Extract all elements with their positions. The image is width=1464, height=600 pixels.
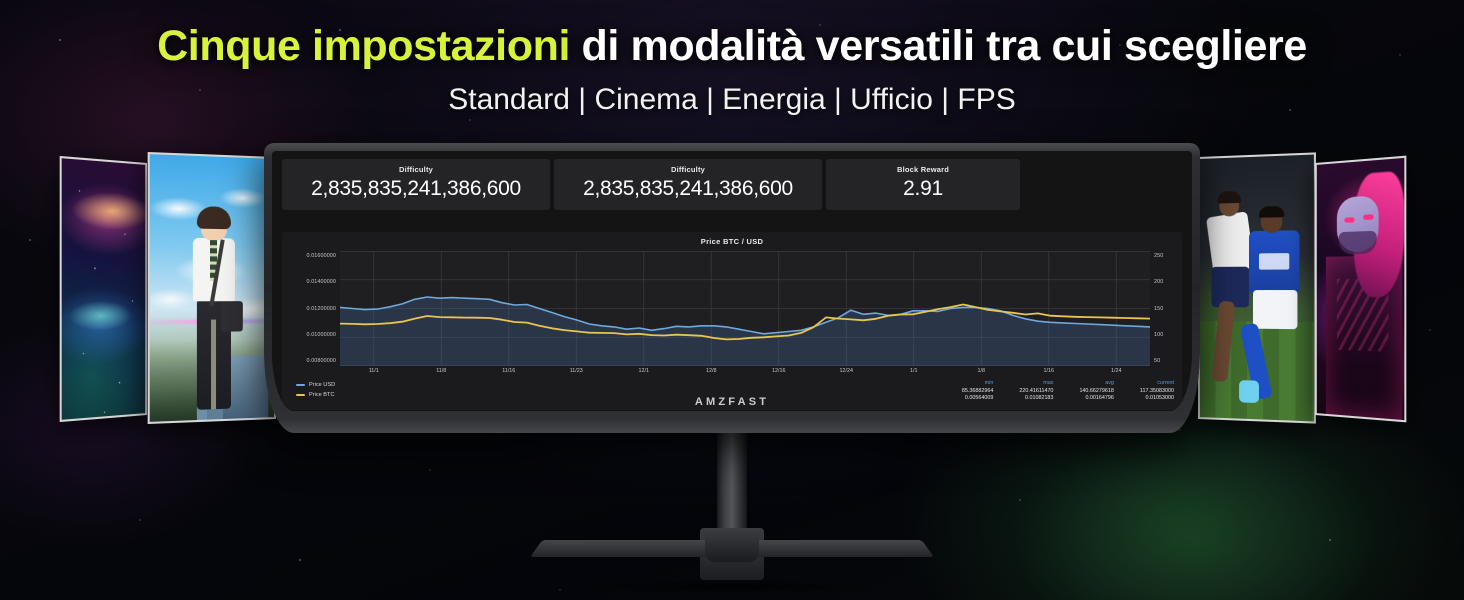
wallpaper-panel-anime (148, 152, 276, 424)
y-right-tick-3: 100 (1154, 332, 1176, 338)
monitor-bezel: Difficulty 2,835,835,241,386,600 Difficu… (264, 143, 1200, 433)
plot-row: 0.016000000.014000000.012000000.01000000… (288, 251, 1176, 366)
cyberpunk-image (1317, 158, 1405, 420)
legend-swatch-icon (296, 384, 305, 387)
y-left-tick-4: 0.00800000 (288, 358, 336, 364)
stats-header-avg: avg (1053, 380, 1113, 388)
x-tick-4: 12/1 (610, 368, 678, 374)
stats-header-current: current (1114, 380, 1174, 388)
cyber-character-eye-left (1344, 217, 1354, 223)
player-blue-sock (1239, 380, 1259, 403)
chart-plot-area[interactable] (340, 251, 1150, 366)
cyber-character-mask (1339, 231, 1377, 255)
player-blue-hair (1259, 206, 1284, 218)
x-tick-6: 12/16 (745, 368, 813, 374)
wallpaper-panel-soccer (1198, 152, 1316, 423)
kpi-label: Difficulty (562, 165, 814, 174)
y-right-tick-4: 50 (1154, 358, 1176, 364)
kpi-value: 2,835,835,241,386,600 (290, 177, 542, 201)
x-tick-8: 1/1 (880, 368, 948, 374)
monitor-stand-neck (717, 432, 747, 536)
x-tick-2: 11/16 (475, 368, 543, 374)
player-white-hair (1217, 191, 1241, 204)
x-tick-7: 12/24 (813, 368, 881, 374)
kpi-label: Difficulty (290, 165, 542, 174)
legend-item-0[interactable]: Price USD (296, 380, 510, 390)
soccer-player-blue (1243, 208, 1312, 402)
stats-table-head: minmaxavgcurrent (936, 380, 1174, 388)
kpi-card-difficulty-2[interactable]: Difficulty 2,835,835,241,386,600 (554, 159, 822, 210)
kpi-card-difficulty-1[interactable]: Difficulty 2,835,835,241,386,600 (282, 159, 550, 210)
crypto-dashboard: Difficulty 2,835,835,241,386,600 Difficu… (272, 151, 1192, 411)
legend-label: Price USD (309, 382, 335, 388)
stats-row-0: 85.36882964220.41611470140.66279618117.3… (936, 388, 1174, 395)
headline-block: Cinque impostazioni di modalità versatil… (0, 22, 1464, 117)
wallpaper-panel-cyberpunk (1315, 156, 1406, 423)
stats-header-min: min (936, 380, 993, 388)
player-blue-shorts (1253, 290, 1297, 329)
monitor-stand-hub (705, 528, 759, 562)
monitor-screen: Difficulty 2,835,835,241,386,600 Difficu… (272, 151, 1192, 411)
x-tick-1: 11/8 (408, 368, 476, 374)
y-left-tick-3: 0.01000000 (288, 332, 336, 338)
anime-character (185, 211, 243, 416)
y-right-tick-2: 150 (1154, 306, 1176, 312)
kpi-row: Difficulty 2,835,835,241,386,600 Difficu… (282, 159, 1182, 210)
headline-rest: di modalità versatili tra cui scegliere (570, 22, 1307, 70)
y-left-tick-0: 0.01600000 (288, 253, 336, 259)
y-axis-right: 25020015010050 (1150, 251, 1176, 366)
mode-list-subtitle: Standard | Cinema | Energia | Ufficio | … (0, 83, 1464, 117)
y-axis-left: 0.016000000.014000000.012000000.01000000… (288, 251, 340, 366)
y-left-tick-2: 0.01200000 (288, 306, 336, 312)
x-tick-10: 1/16 (1015, 368, 1083, 374)
soccer-image (1200, 155, 1314, 422)
player-blue-jersey (1249, 230, 1300, 294)
stats-header-max: max (993, 380, 1053, 388)
kpi-value: 2.91 (834, 177, 1012, 201)
galaxy-image (62, 158, 146, 420)
chart-title: Price BTC / USD (288, 237, 1176, 246)
x-tick-5: 12/8 (678, 368, 746, 374)
stats-cell: 117.35083000 (1114, 388, 1174, 395)
x-axis: 11/111/811/1611/2312/112/812/1612/241/11… (288, 368, 1176, 374)
y-right-tick-0: 250 (1154, 253, 1176, 259)
brand-logo: AMZFAST (272, 396, 1192, 408)
price-chart-card: Price BTC / USD 0.016000000.014000000.01… (282, 232, 1182, 410)
x-tick-0: 11/1 (340, 368, 408, 374)
y-right-tick-1: 200 (1154, 279, 1176, 285)
stats-cell: 140.66279618 (1053, 388, 1113, 395)
headline-highlight: Cinque impostazioni (157, 22, 570, 70)
player-white-leg (1211, 300, 1235, 382)
x-tick-9: 1/8 (948, 368, 1016, 374)
stats-header-row: minmaxavgcurrent (936, 380, 1174, 388)
monitor: Difficulty 2,835,835,241,386,600 Difficu… (264, 143, 1200, 433)
x-tick-11: 1/24 (1083, 368, 1151, 374)
stats-cell: 220.41611470 (993, 388, 1053, 395)
character-bag (221, 301, 243, 332)
chart-svg (340, 251, 1150, 366)
anime-image (150, 154, 274, 422)
wallpaper-panel-galaxy (60, 156, 147, 422)
kpi-label: Block Reward (834, 165, 1012, 174)
page-title: Cinque impostazioni di modalità versatil… (0, 22, 1464, 71)
x-tick-3: 11/23 (543, 368, 611, 374)
cyber-character-eye-right (1363, 214, 1374, 220)
y-left-tick-1: 0.01400000 (288, 279, 336, 285)
stats-cell: 85.36882964 (936, 388, 993, 395)
kpi-value: 2,835,835,241,386,600 (562, 177, 814, 201)
kpi-card-block-reward[interactable]: Block Reward 2.91 (826, 159, 1020, 210)
